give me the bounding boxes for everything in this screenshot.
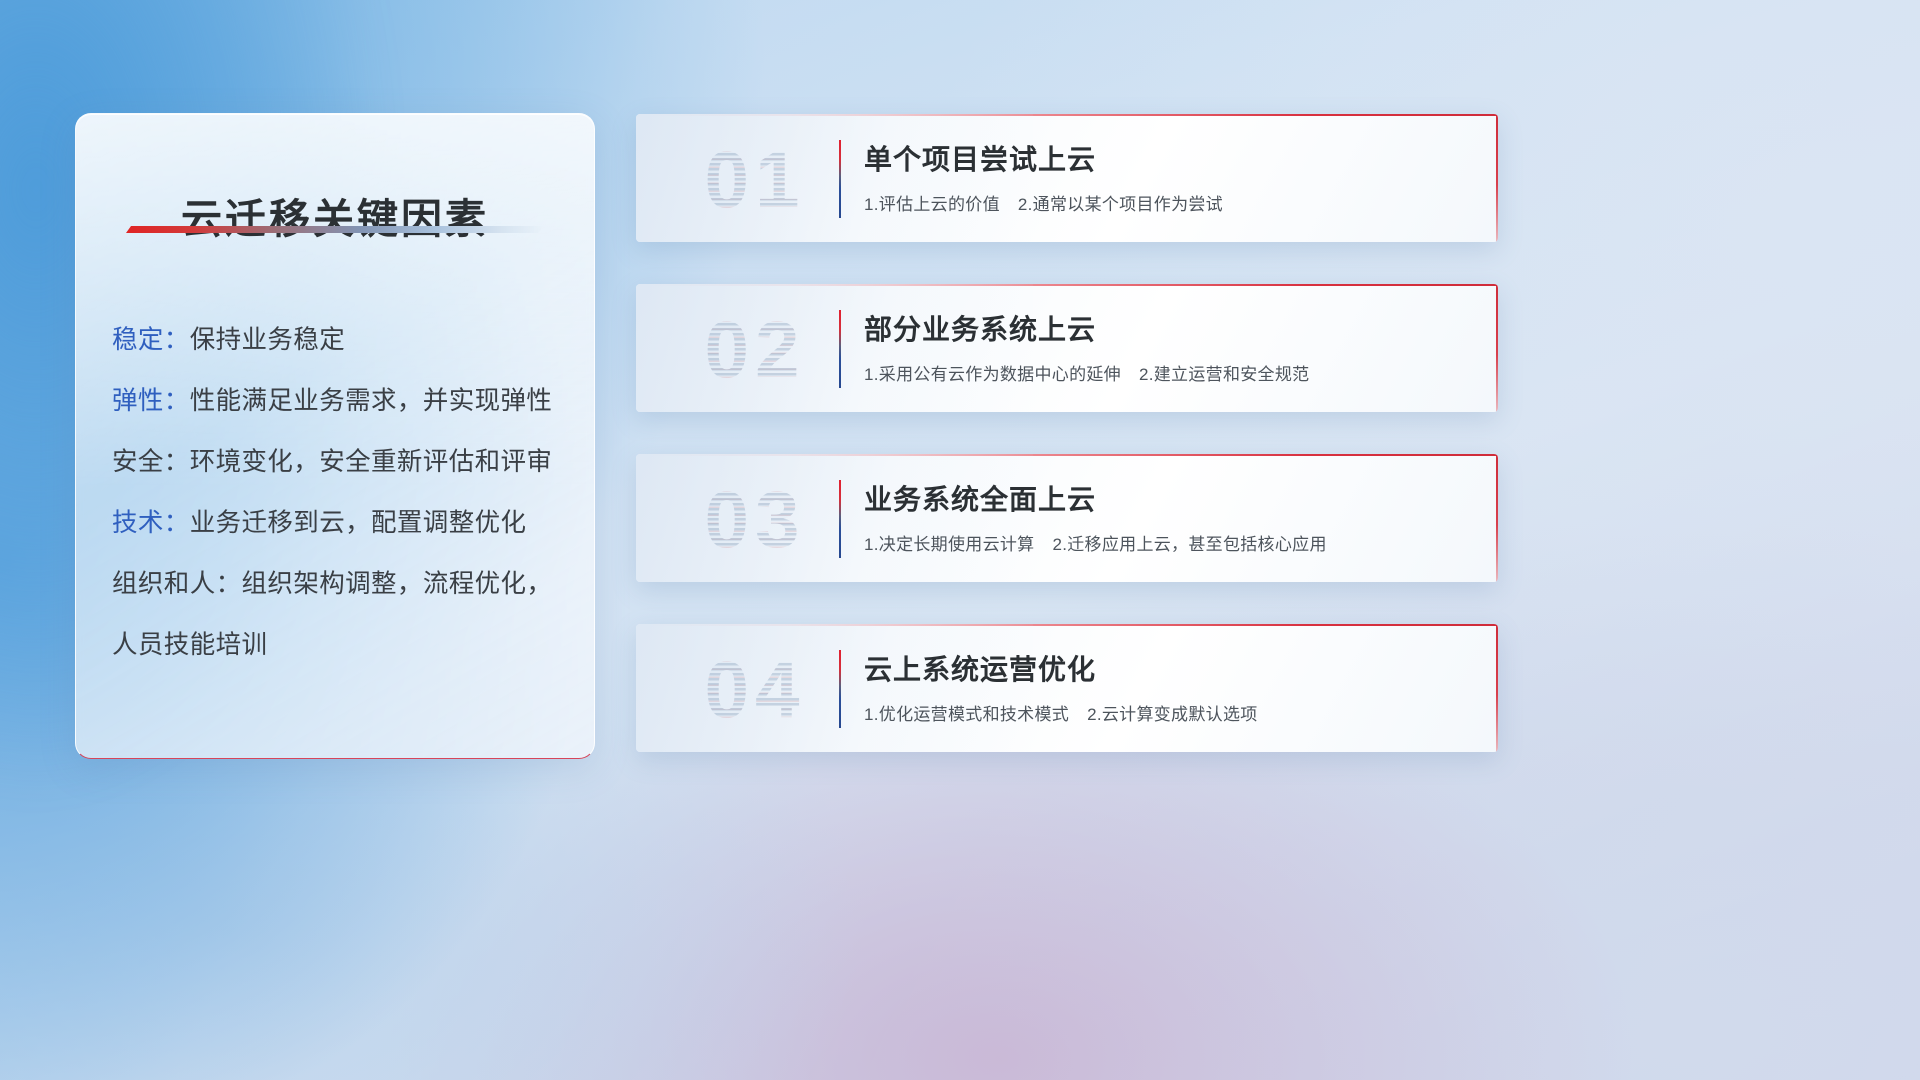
migration-stage-cards: 0101单个项目尝试上云1.评估上云的价值2.通常以某个项目作为尝试0202部分… [636, 114, 1498, 794]
card-description: 1.决定长期使用云计算2.迁移应用上云，甚至包括核心应用 [864, 530, 1474, 555]
key-factor-text: 性能满足业务需求，并实现弹性 [190, 387, 553, 415]
key-factor-text: 业务迁移到云，配置调整优化 [190, 509, 527, 537]
key-factor-text: 保持业务稳定 [190, 326, 345, 354]
key-factor-text: 人员技能培训 [112, 631, 267, 659]
card-divider-line [839, 650, 841, 728]
card-right-accent-line [1496, 114, 1498, 242]
card-description: 1.采用公有云作为数据中心的延伸2.建立运营和安全规范 [864, 360, 1474, 385]
key-factor-label: 弹性： [112, 387, 190, 415]
key-factors-list: 稳定：保持业务稳定弹性：性能满足业务需求，并实现弹性安全：环境变化，安全重新评估… [112, 310, 568, 676]
card-point: 2.通常以某个项目作为尝试 [1018, 195, 1223, 214]
key-factor-row: 组织和人：组织架构调整，流程优化， [112, 554, 568, 615]
card-step-number: 03 [660, 468, 850, 572]
card-body: 云上系统运营优化1.优化运营模式和技术模式2.云计算变成默认选项 [864, 648, 1474, 725]
slide-stage: 云迁移关键因素 稳定：保持业务稳定弹性：性能满足业务需求，并实现弹性安全：环境变… [0, 0, 1920, 1080]
key-factor-label: 安全： [112, 448, 190, 476]
card-point: 1.决定长期使用云计算 [864, 535, 1034, 554]
key-factor-label: 技术： [112, 509, 190, 537]
card-divider-line [839, 310, 841, 388]
card-top-accent-line [636, 284, 1498, 286]
card-right-accent-line [1496, 624, 1498, 752]
card-step-number: 01 [660, 128, 850, 232]
card-description: 1.评估上云的价值2.通常以某个项目作为尝试 [864, 190, 1474, 215]
key-factor-row: 稳定：保持业务稳定 [112, 310, 568, 371]
card-title: 业务系统全面上云 [864, 478, 1474, 518]
key-factor-row: 技术：业务迁移到云，配置调整优化 [112, 493, 568, 554]
card-point: 2.建立运营和安全规范 [1139, 365, 1309, 384]
card-point: 1.优化运营模式和技术模式 [864, 705, 1069, 724]
key-factors-panel: 云迁移关键因素 稳定：保持业务稳定弹性：性能满足业务需求，并实现弹性安全：环境变… [75, 113, 595, 759]
card-title: 单个项目尝试上云 [864, 138, 1474, 178]
card-point: 2.迁移应用上云，甚至包括核心应用 [1052, 535, 1326, 554]
key-factor-row: 安全：环境变化，安全重新评估和评审 [112, 432, 568, 493]
key-factor-label: 稳定： [112, 326, 190, 354]
key-factor-row: 人员技能培训 [112, 615, 568, 676]
card-step-number: 04 [660, 638, 850, 742]
card-right-accent-line [1496, 454, 1498, 582]
card-title: 云上系统运营优化 [864, 648, 1474, 688]
title-underline-accent [126, 226, 544, 233]
card-body: 单个项目尝试上云1.评估上云的价值2.通常以某个项目作为尝试 [864, 138, 1474, 215]
card-description: 1.优化运营模式和技术模式2.云计算变成默认选项 [864, 700, 1474, 725]
key-factor-text: 组织架构调整，流程优化， [242, 570, 553, 598]
key-factor-text: 环境变化，安全重新评估和评审 [190, 448, 553, 476]
card-point: 1.评估上云的价值 [864, 195, 1000, 214]
card-point: 2.云计算变成默认选项 [1087, 705, 1257, 724]
card-step-number: 02 [660, 298, 850, 402]
page-title: 云迁移关键因素 [76, 185, 594, 245]
card-title: 部分业务系统上云 [864, 308, 1474, 348]
card-point: 1.采用公有云作为数据中心的延伸 [864, 365, 1121, 384]
card-top-accent-line [636, 114, 1498, 116]
card-body: 业务系统全面上云1.决定长期使用云计算2.迁移应用上云，甚至包括核心应用 [864, 478, 1474, 555]
key-factor-row: 弹性：性能满足业务需求，并实现弹性 [112, 371, 568, 432]
migration-stage-card[interactable]: 0404云上系统运营优化1.优化运营模式和技术模式2.云计算变成默认选项 [636, 624, 1498, 752]
migration-stage-card[interactable]: 0101单个项目尝试上云1.评估上云的价值2.通常以某个项目作为尝试 [636, 114, 1498, 242]
key-factor-label: 组织和人： [112, 570, 242, 598]
card-top-accent-line [636, 454, 1498, 456]
card-divider-line [839, 480, 841, 558]
card-body: 部分业务系统上云1.采用公有云作为数据中心的延伸2.建立运营和安全规范 [864, 308, 1474, 385]
card-top-accent-line [636, 624, 1498, 626]
card-divider-line [839, 140, 841, 218]
migration-stage-card[interactable]: 0303业务系统全面上云1.决定长期使用云计算2.迁移应用上云，甚至包括核心应用 [636, 454, 1498, 582]
card-right-accent-line [1496, 284, 1498, 412]
migration-stage-card[interactable]: 0202部分业务系统上云1.采用公有云作为数据中心的延伸2.建立运营和安全规范 [636, 284, 1498, 412]
